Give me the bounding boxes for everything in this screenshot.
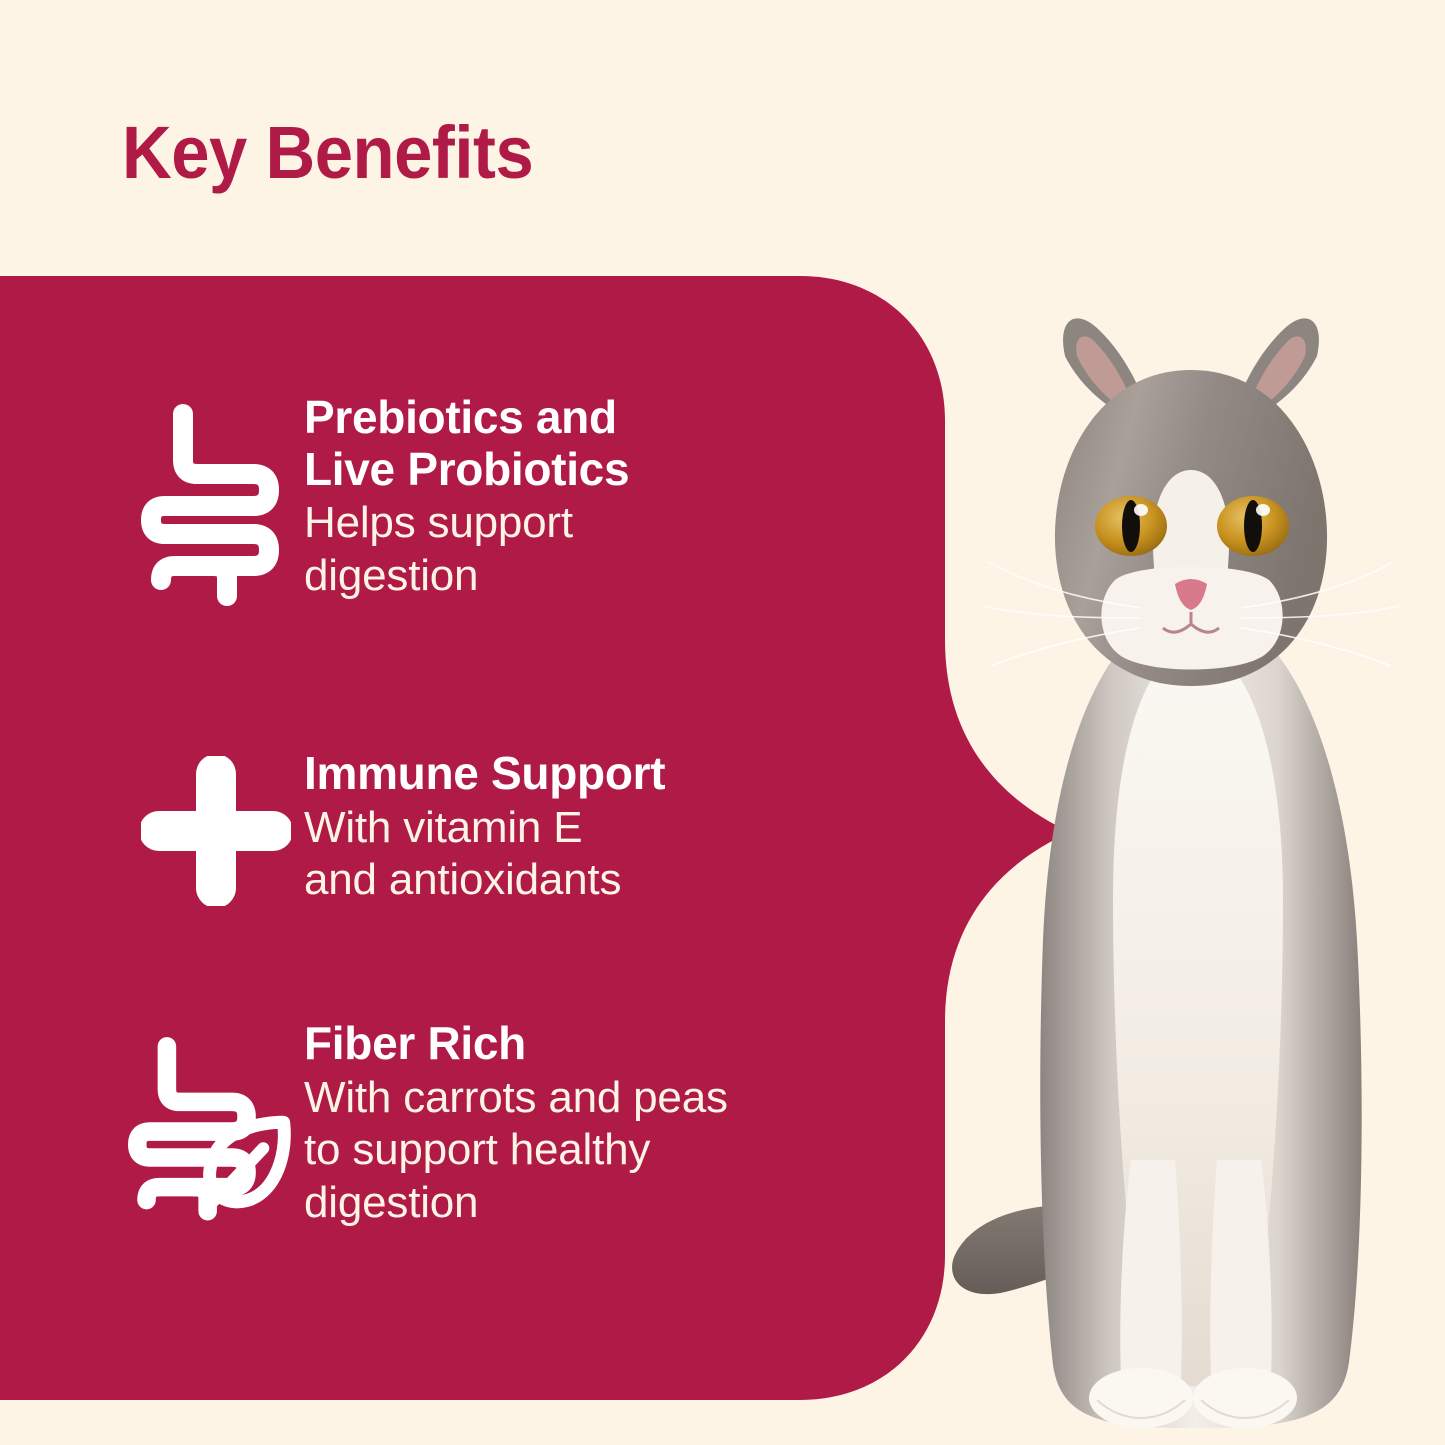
plus-icon [128,748,304,906]
benefit-item-immune: Immune Support With vitamin E and antiox… [128,748,665,907]
benefit-description: Helps support digestion [304,497,629,603]
benefit-description: With vitamin E and antioxidants [304,802,665,908]
intestine-icon [128,392,304,606]
key-benefits-panel: Key Benefits Prebiotics and Live Probiot… [0,0,1445,1445]
cat-photo [945,300,1445,1445]
benefit-title: Prebiotics and Live Probiotics [304,392,629,495]
benefit-text-immune: Immune Support With vitamin E and antiox… [304,748,665,907]
page-title: Key Benefits [122,116,533,190]
benefit-title: Fiber Rich [304,1018,728,1070]
benefit-title: Immune Support [304,748,665,800]
benefit-item-fiber: Fiber Rich With carrots and peas to supp… [128,1018,728,1230]
benefit-item-prebiotics: Prebiotics and Live Probiotics Helps sup… [128,392,629,606]
intestine-leaf-icon [128,1018,304,1226]
benefit-text-fiber: Fiber Rich With carrots and peas to supp… [304,1018,728,1230]
benefit-description: With carrots and peas to support healthy… [304,1072,728,1230]
benefit-text-prebiotics: Prebiotics and Live Probiotics Helps sup… [304,392,629,603]
